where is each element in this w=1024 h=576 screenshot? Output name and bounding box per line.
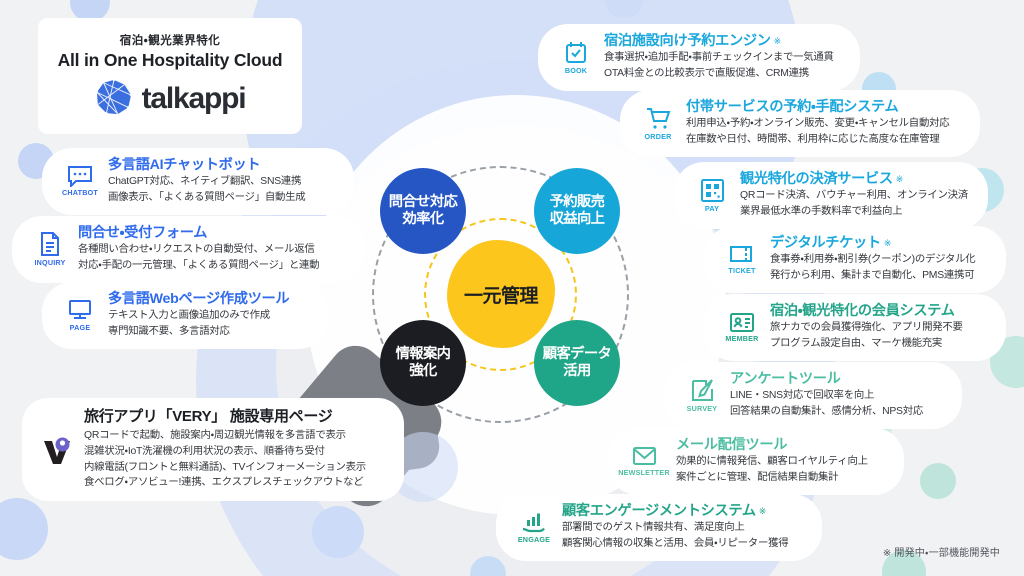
card-line: 旅ナカでの会員獲得強化、アプリ開発不要 [770,321,963,336]
quadrant-booking-revenue[interactable]: 予約販売 収益向上 [534,168,620,254]
card-pay[interactable]: PAY 観光特化の決済サービス※ QRコード決済、バウチャー利用、オンライン決済… [674,162,988,229]
card-line: 混雑状況・IoT洗濯機の利用状況の表示、順番待ち受付 [84,445,366,460]
card-line: 発行から利用、集計まで自動化、PMS連携可 [770,269,975,284]
card-title: メール配信ツール [676,437,868,454]
card-title: 宿泊施設向け予約エンジン※ [604,33,834,50]
icon-label: PAGE [70,323,91,332]
card-title: 宿泊・観光特化の会員システム [770,303,963,320]
qr-code-icon: PAY [684,178,740,213]
card-line: 専門知識不要、多言語対応 [108,325,292,340]
card-line: 効果的に情報発信、顧客ロイヤルティ向上 [676,455,868,470]
calendar-check-icon: BOOK [548,40,604,75]
envelope-icon: NEWSLETTER [612,445,676,477]
decor-dot-3 [0,498,48,560]
monitor-icon: PAGE [52,298,108,332]
quadrant-line-1: 顧客データ [543,346,611,363]
card-line: 食事選択・追加手配・事前チェックインまで一気通貫 [604,51,834,66]
card-line: 画像表示、「よくある質問ページ」自動生成 [108,191,305,206]
card-very[interactable]: 旅行アプリ「VERY」 施設専用ページ QRコードで起動、施設案内・周辺観光情報… [22,398,404,501]
card-line: 各種問い合わせ・リクエストの自動受付、メール返信 [78,243,319,258]
footnote: ※ 開発中・一部機能開発中 [883,544,1000,559]
card-line: 業界最低水準の手数料率で利益向上 [740,205,968,220]
icon-label: CHATBOT [62,188,98,197]
quadrant-line-1: 情報案内 [396,346,451,363]
card-book[interactable]: BOOK 宿泊施設向け予約エンジン※ 食事選択・追加手配・事前チェックインまで一… [538,24,860,91]
card-inquiry[interactable]: INQUIRY 問合せ・受付フォーム 各種問い合わせ・リクエストの自動受付、メー… [12,216,364,283]
card-line: 対応・手配の一元管理、「よくある質問ページ」と連動 [78,259,319,274]
card-survey[interactable]: SURVEY アンケートツール LINE・SNS対応で回収率を向上 回答結果の自… [664,362,962,429]
icon-label: ENGAGE [518,535,550,544]
card-title: アンケートツール [730,371,923,388]
card-line: QRコードで起動、施設案内・周辺観光情報を多言語で表示 [84,429,366,444]
quadrant-line-1: 予約販売 [550,194,605,211]
card-line: プログラム設定自由、マーケ機能充実 [770,337,963,352]
icon-label: MEMBER [725,334,758,343]
card-line: OTA料金との比較表示で直販促進、CRM連携 [604,67,834,82]
pencil-square-icon: SURVEY [674,378,730,413]
card-line: 回答結果の自動集計、感情分析、NPS対応 [730,405,923,420]
shopping-cart-icon: ORDER [630,106,686,141]
quadrant-inquiry-efficiency[interactable]: 問合せ対応 効率化 [380,168,466,254]
card-line: QRコード決済、バウチャー利用、オンライン決済 [740,189,968,204]
quadrant-line-2: 活用 [563,363,590,380]
quadrant-line-2: 効率化 [402,211,443,228]
card-title: 付帯サービスの予約・手配システム [686,99,949,116]
card-line: 部署間でのゲスト情報共有、満足度向上 [562,521,788,536]
brand-tagline: All in One Hospitality Cloud [58,50,283,71]
decor-dot-10 [920,463,956,499]
brand-wordmark: talkappi [142,82,246,116]
infographic-canvas: 宿泊・観光業界特化 All in One Hospitality Cloud [0,0,1024,576]
polyhedron-sphere-icon [95,78,133,121]
very-pin-icon [30,433,84,467]
card-engage[interactable]: ENGAGE 顧客エンゲージメントシステム※ 部署間でのゲスト情報共有、満足度向… [496,494,822,561]
decor-dot-4 [312,506,364,558]
id-card-icon: MEMBER [714,312,770,343]
card-line: 食事券・利用券・割引券(クーポン)のデジタル化 [770,253,975,268]
quadrant-line-1: 問合せ対応 [389,194,457,211]
icon-label: ORDER [645,132,672,141]
icon-label: PAY [705,204,719,213]
card-line: 案件ごとに管理、配信結果自動集計 [676,471,868,486]
card-line: LINE・SNS対応で回収率を向上 [730,389,923,404]
card-line: テキスト入力と画像追加のみで作成 [108,309,292,324]
ticket-icon: TICKET [714,243,770,275]
card-line: 内線電話(フロントと無料通話)、TVインフォーメーション表示 [84,461,366,476]
card-line: 顧客関心情報の収集と活用、会員・リピーター獲得 [562,537,788,552]
card-title: 顧客エンゲージメントシステム※ [562,503,788,520]
card-line: 利用申込・予約・オンライン販売、変更・キャンセル自動対応 [686,117,949,132]
card-line: ChatGPT対応、ネイティブ翻訳、SNS連携 [108,175,305,190]
icon-label: SURVEY [687,404,718,413]
card-chatbot[interactable]: CHATBOT 多言語AIチャットボット ChatGPT対応、ネイティブ翻訳、S… [42,148,354,215]
card-title: デジタルチケット※ [770,235,975,252]
card-line: 在庫数や日付、時間帯、利用枠に応じた高度な在庫管理 [686,133,949,148]
card-page[interactable]: PAGE 多言語Webページ作成ツール テキスト入力と画像追加のみで作成 専門知… [42,282,328,349]
quadrant-line-2: 強化 [409,363,436,380]
icon-label: BOOK [565,66,587,75]
center-diagram: 問合せ対応 効率化 予約販売 収益向上 情報案内 強化 顧客データ 活用 一元管… [358,152,643,437]
icon-label: NEWSLETTER [618,468,670,477]
card-member[interactable]: MEMBER 宿泊・観光特化の会員システム 旅ナカでの会員獲得強化、アプリ開発不… [704,294,1006,361]
brand-logo-card: 宿泊・観光業界特化 All in One Hospitality Cloud [38,18,302,134]
card-title: 多言語AIチャットボット [108,157,305,174]
document-form-icon: INQUIRY [22,231,78,267]
card-line: 食べログ・アソビュー!連携、エクスプレスチェックアウトなど [84,476,366,491]
card-order[interactable]: ORDER 付帯サービスの予約・手配システム 利用申込・予約・オンライン販売、変… [620,90,980,157]
diagram-hub: 一元管理 [447,240,555,348]
brand-subtitle: 宿泊・観光業界特化 [120,32,220,48]
chat-bubble-icon: CHATBOT [52,165,108,197]
card-title: 問合せ・受付フォーム [78,225,319,242]
hand-bar-chart-icon: ENGAGE [506,510,562,544]
icon-label: INQUIRY [34,258,65,267]
card-title: 多言語Webページ作成ツール [108,291,292,308]
card-title: 観光特化の決済サービス※ [740,171,968,188]
quadrant-line-2: 収益向上 [550,211,605,228]
quadrant-info-guidance[interactable]: 情報案内 強化 [380,320,466,406]
card-ticket[interactable]: TICKET デジタルチケット※ 食事券・利用券・割引券(クーポン)のデジタル化… [704,226,1006,293]
quadrant-customer-data[interactable]: 顧客データ 活用 [534,320,620,406]
card-newsletter[interactable]: NEWSLETTER メール配信ツール 効果的に情報発信、顧客ロイヤルティ向上 … [608,428,904,495]
icon-label: TICKET [728,266,755,275]
card-title: 旅行アプリ「VERY」 施設専用ページ [84,408,366,426]
